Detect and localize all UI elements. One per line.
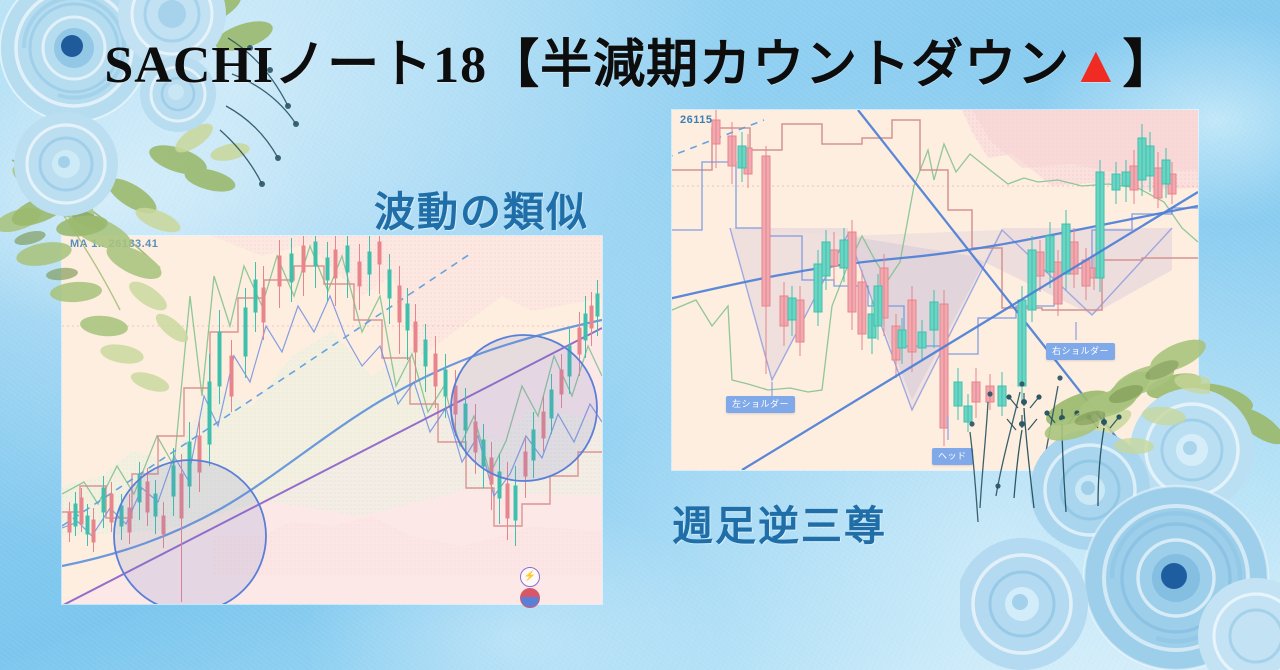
right-shoulder-label: 右ショルダー (1046, 343, 1115, 360)
left-shoulder-label: 左ショルダー (726, 396, 795, 413)
similarity-circle-right (451, 335, 597, 481)
page-title-close: 】 (1123, 37, 1176, 94)
poster-canvas: MA 1.. 26183.41 ⚡ (0, 0, 1280, 670)
right-chart-panel (672, 110, 1198, 470)
zap-icon[interactable]: ⚡ (520, 567, 540, 587)
similarity-circle-left (114, 460, 266, 604)
head-label: ヘッド (932, 448, 973, 465)
flag-icon[interactable] (520, 588, 540, 608)
right-chart-svg (672, 110, 1198, 470)
caption-wave-similarity: 波動の類似 (374, 178, 589, 238)
left-chart-panel (62, 236, 602, 604)
red-triangle-icon: ▲ (1070, 37, 1122, 94)
left-chart-svg (62, 236, 602, 604)
page-title: SACHIノート18【半減期カウントダウン▲】 (0, 22, 1280, 97)
page-title-main: SACHIノート18【半減期カウントダウン (104, 37, 1070, 94)
caption-weekly-inverse-head-shoulders: 週足逆三尊 (672, 492, 887, 552)
